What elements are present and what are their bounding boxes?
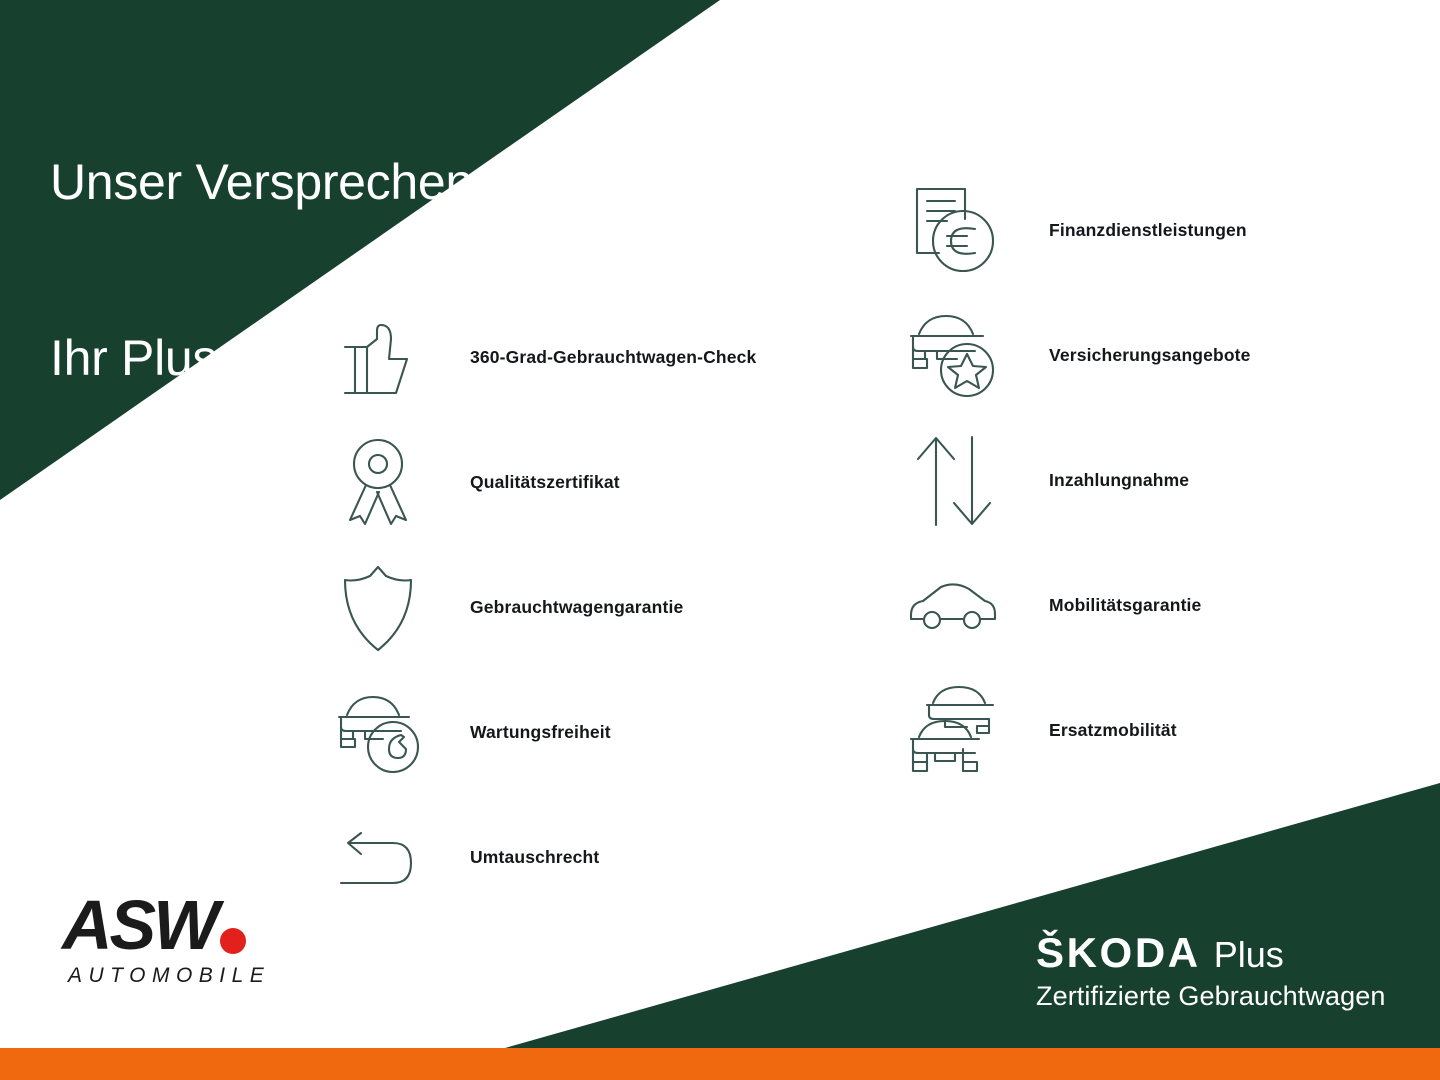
feature-item-quality-certificate: Qualitätszertifikat <box>330 420 756 545</box>
feature-item-mobility-guarantee: Mobilitätsgarantie <box>905 543 1251 668</box>
up-down-arrows-icon <box>905 429 1001 533</box>
feature-list-left: 360-Grad-Gebrauchtwagen-Check Qualitätsz… <box>330 295 756 920</box>
promo-banner: Unser Versprechen. Ihr Plus. 360-Grad-Ge… <box>0 0 1440 1080</box>
car-wrench-icon <box>330 681 426 785</box>
feature-item-insurance-offers: Versicherungsangebote <box>905 293 1251 418</box>
shield-icon <box>330 556 426 660</box>
red-dot-icon <box>220 928 246 954</box>
feature-label: Mobilitätsgarantie <box>1049 595 1201 616</box>
car-star-icon <box>905 304 1001 408</box>
feature-item-trade-in: Inzahlungnahme <box>905 418 1251 543</box>
car-side-icon <box>905 554 1001 658</box>
two-cars-icon <box>905 679 1001 783</box>
award-rosette-icon <box>330 431 426 535</box>
feature-item-replacement-mobility: Ersatzmobilität <box>905 668 1251 793</box>
feature-item-360-check: 360-Grad-Gebrauchtwagen-Check <box>330 295 756 420</box>
feature-label: Finanzdienstleistungen <box>1049 220 1247 241</box>
feature-label: Ersatzmobilität <box>1049 720 1177 741</box>
feature-label: Qualitätszertifikat <box>470 472 620 493</box>
thumbs-up-icon <box>330 306 426 410</box>
document-euro-icon <box>905 179 1001 283</box>
skoda-plus-logo: ŠKODA Plus Zertifizierte Gebrauchtwagen <box>1036 932 1385 1012</box>
feature-label: 360-Grad-Gebrauchtwagen-Check <box>470 347 756 368</box>
skoda-logo-text: ŠKODA <box>1036 932 1201 974</box>
asw-logo-subtitle: AUTOMOBILE <box>68 964 312 988</box>
return-arrow-icon <box>330 806 426 910</box>
feature-item-warranty: Gebrauchtwagengarantie <box>330 545 756 670</box>
feature-label: Umtauschrecht <box>470 847 599 868</box>
feature-label: Gebrauchtwagengarantie <box>470 597 683 618</box>
feature-list-right: Finanzdienstleistungen Versicherungsange… <box>905 168 1251 793</box>
asw-dealer-logo: ASW AUTOMOBILE <box>62 888 312 988</box>
feature-label: Versicherungsangebote <box>1049 345 1251 366</box>
headline-line-1: Unser Versprechen. <box>50 153 487 212</box>
feature-label: Wartungsfreiheit <box>470 722 611 743</box>
skoda-plus-subtitle: Zertifizierte Gebrauchtwagen <box>1036 982 1385 1012</box>
feature-item-exchange-right: Umtauschrecht <box>330 795 756 920</box>
asw-logo-text: ASW <box>62 892 216 959</box>
asw-wordmark: ASW <box>62 888 312 958</box>
feature-label: Inzahlungnahme <box>1049 470 1189 491</box>
orange-accent-bar <box>0 1048 1440 1080</box>
skoda-plus-wordmark: ŠKODA Plus <box>1036 932 1385 974</box>
feature-item-financial-services: Finanzdienstleistungen <box>905 168 1251 293</box>
feature-item-maintenance-free: Wartungsfreiheit <box>330 670 756 795</box>
skoda-plus-suffix: Plus <box>1214 937 1284 973</box>
